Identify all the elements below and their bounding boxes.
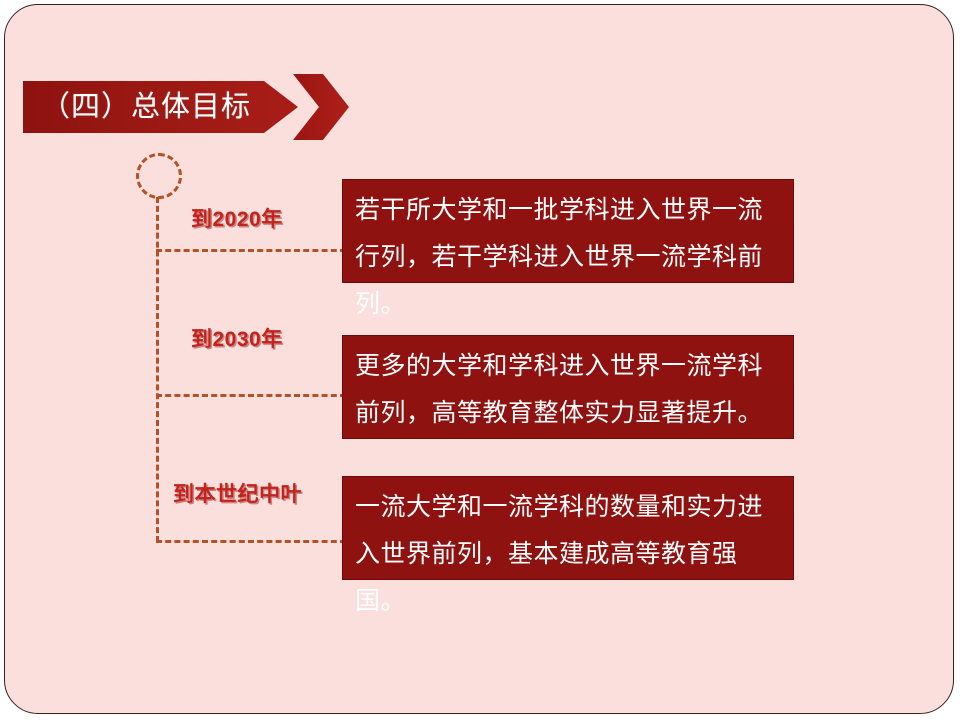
milestone-label-2030: 到2030年 <box>191 323 283 353</box>
milestone-label-2020: 到2020年 <box>191 203 283 233</box>
section-title-banner: （四）总体目标 <box>23 81 298 133</box>
milestone-goal-box-mid-century: 一流大学和一流学科的数量和实力进入世界前列，基本建成高等教育强国。 <box>342 476 794 580</box>
page-title: （四）总体目标 <box>41 81 251 133</box>
timeline-connector-3 <box>156 540 346 543</box>
timeline-connector-2 <box>156 394 346 397</box>
double-chevron-right-icon <box>293 74 349 140</box>
timeline-connector-1 <box>156 249 346 252</box>
milestone-goal-box-2020: 若干所大学和一批学科进入世界一流行列，若干学科进入世界一流学科前列。 <box>342 179 794 283</box>
dashed-circle-node-icon <box>136 153 182 199</box>
milestone-label-mid-century: 到本世纪中叶 <box>173 478 302 508</box>
milestone-goal-box-2030: 更多的大学和学科进入世界一流学科前列，高等教育整体实力显著提升。 <box>342 335 794 439</box>
slide-canvas: （四）总体目标 到2020年 到2030年 到本世纪中叶 若干所大学和一批学科进… <box>4 4 954 714</box>
